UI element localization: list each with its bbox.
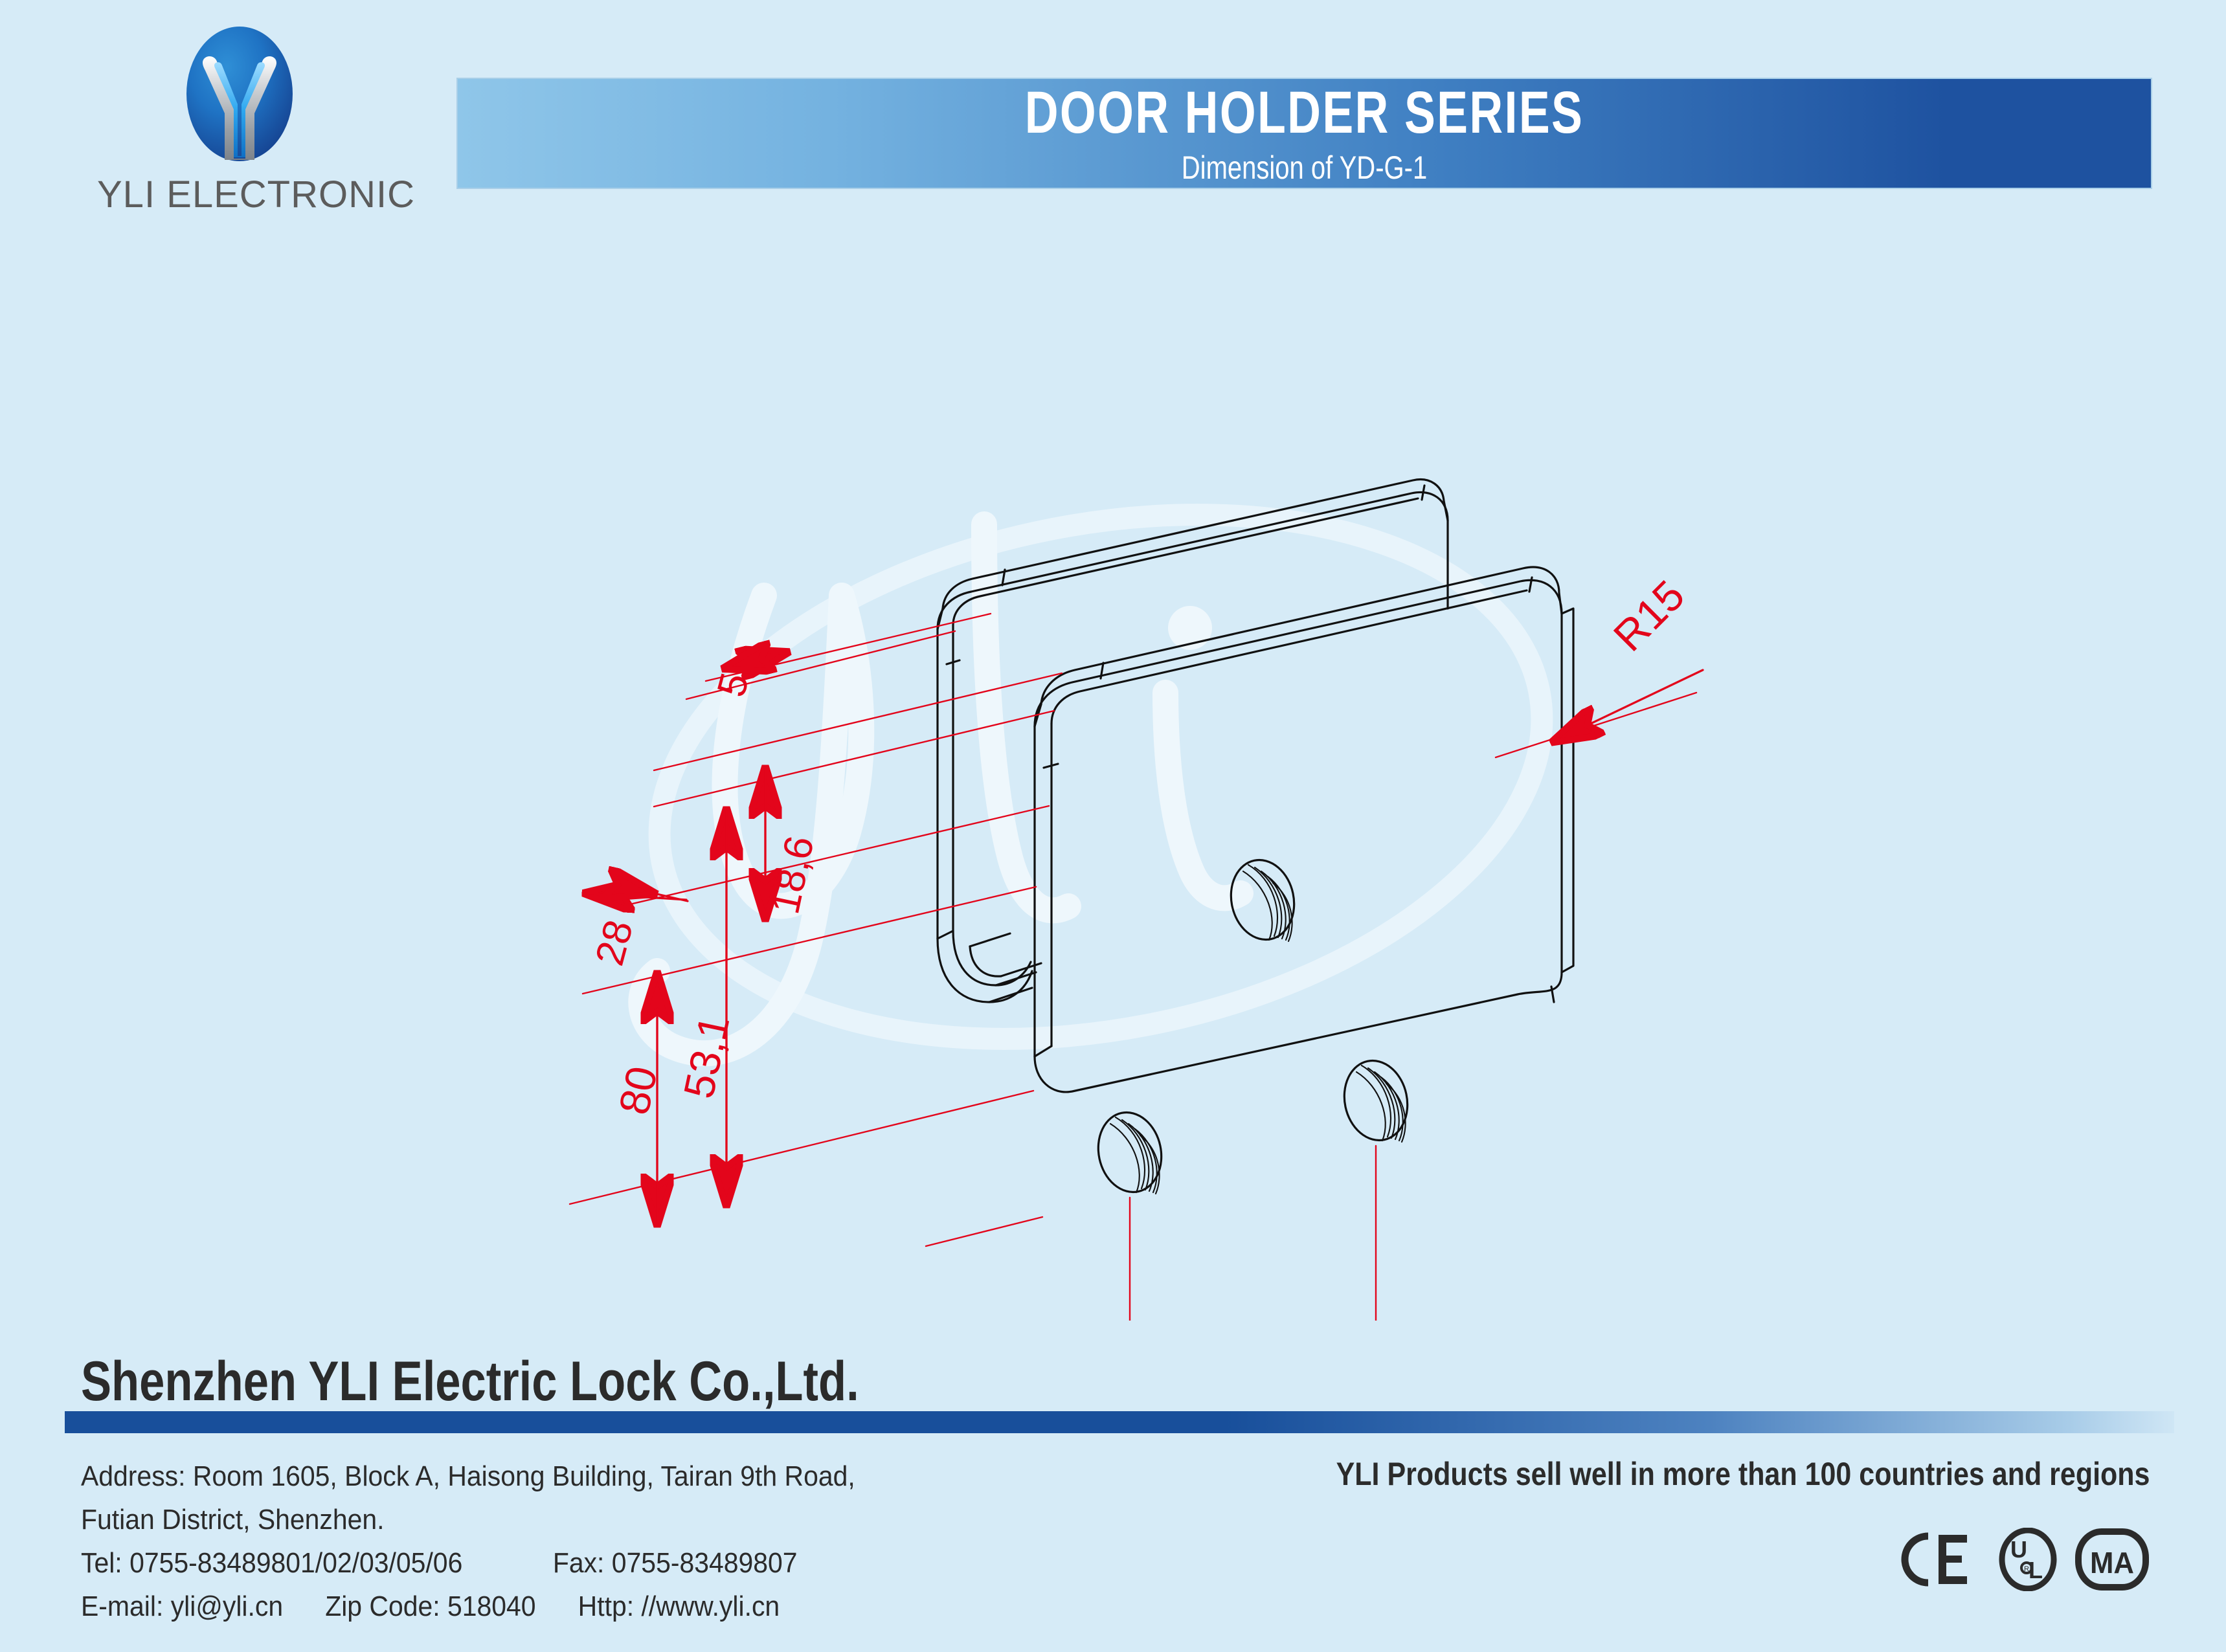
page-footer: Shenzhen YLI Electric Lock Co.,Ltd. Addr… — [0, 1308, 2226, 1652]
svg-text:MA: MA — [2090, 1546, 2134, 1579]
tel-label: Tel: — [81, 1542, 122, 1585]
ul-mark-icon: U L R — [1998, 1528, 2058, 1591]
address-label: Address: — [81, 1460, 185, 1492]
dimension-label-28: 28 — [587, 915, 642, 970]
svg-text:U: U — [2010, 1536, 2027, 1563]
ce-mark-icon — [1898, 1530, 1981, 1589]
page-title: DOOR HOLDER SERIES — [644, 82, 1965, 144]
tel-value: 0755-83489801/02/03/05/06 — [129, 1542, 462, 1585]
threaded-hole-2 — [1337, 1055, 1415, 1146]
drawing-canvas: 5 28 18,6 — [0, 246, 2226, 1321]
spacer — [462, 1542, 553, 1585]
address-line-2: Futian District, Shenzhen. — [81, 1499, 984, 1542]
email-zip-http-row: E-mail: yli@yli.cn Zip Code: 518040 Http… — [81, 1585, 984, 1629]
zip-value: 518040 — [447, 1585, 536, 1629]
technical-drawing: 5 28 18,6 — [0, 246, 2226, 1321]
http-value[interactable]: //www.yli.cn — [641, 1585, 780, 1629]
dimension-r15: R15 — [1554, 571, 1703, 741]
dimension-label-80: 80 — [609, 1062, 666, 1119]
title-banner: DOOR HOLDER SERIES Dimension of YD-G-1 — [456, 78, 2152, 189]
bracket-bottom-web — [938, 931, 1041, 1002]
page-subtitle: Dimension of YD-G-1 — [627, 149, 1982, 186]
dimension-label-r15: R15 — [1604, 571, 1694, 660]
svg-text:R: R — [2024, 1565, 2029, 1573]
address-line-1: Address: Room 1605, Block A, Haisong Bui… — [81, 1455, 984, 1499]
spacer — [283, 1585, 325, 1629]
contact-details: Address: Room 1605, Block A, Haisong Bui… — [81, 1455, 1052, 1629]
footer-divider — [65, 1411, 2174, 1433]
datasheet-page: YLI ELECTRONIC DOOR HOLDER SERIES Dimens… — [0, 0, 2226, 1652]
threaded-hole-3 — [1091, 1106, 1169, 1198]
fax-value: 0755-83489807 — [612, 1542, 798, 1585]
brand-logo: YLI ELECTRONIC — [97, 23, 388, 217]
ma-mark-icon: MA — [2074, 1528, 2150, 1591]
page-header: YLI ELECTRONIC DOOR HOLDER SERIES Dimens… — [0, 0, 2226, 246]
certification-marks: U L R MA — [1898, 1528, 2150, 1591]
address-value-1: Room 1605, Block A, Haisong Building, Ta… — [193, 1460, 855, 1492]
dimension-label-53-1: 53,1 — [674, 1011, 738, 1102]
marketing-tagline: YLI Products sell well in more than 100 … — [1336, 1455, 2150, 1493]
email-value[interactable]: yli@yli.cn — [171, 1585, 283, 1629]
spacer — [536, 1585, 578, 1629]
http-label: Http: — [578, 1585, 634, 1629]
address-value-2: Futian District, Shenzhen. — [81, 1504, 385, 1535]
zip-label: Zip Code: — [325, 1585, 440, 1629]
company-name: Shenzhen YLI Electric Lock Co.,Ltd. — [81, 1350, 859, 1414]
fax-label: Fax: — [553, 1542, 605, 1585]
brand-wordmark: YLI ELECTRONIC — [97, 173, 388, 216]
tel-fax-row: Tel: 0755-83489801/02/03/05/06 Fax: 0755… — [81, 1542, 984, 1585]
email-label: E-mail: — [81, 1585, 163, 1629]
yli-y-logo-icon — [178, 23, 301, 168]
